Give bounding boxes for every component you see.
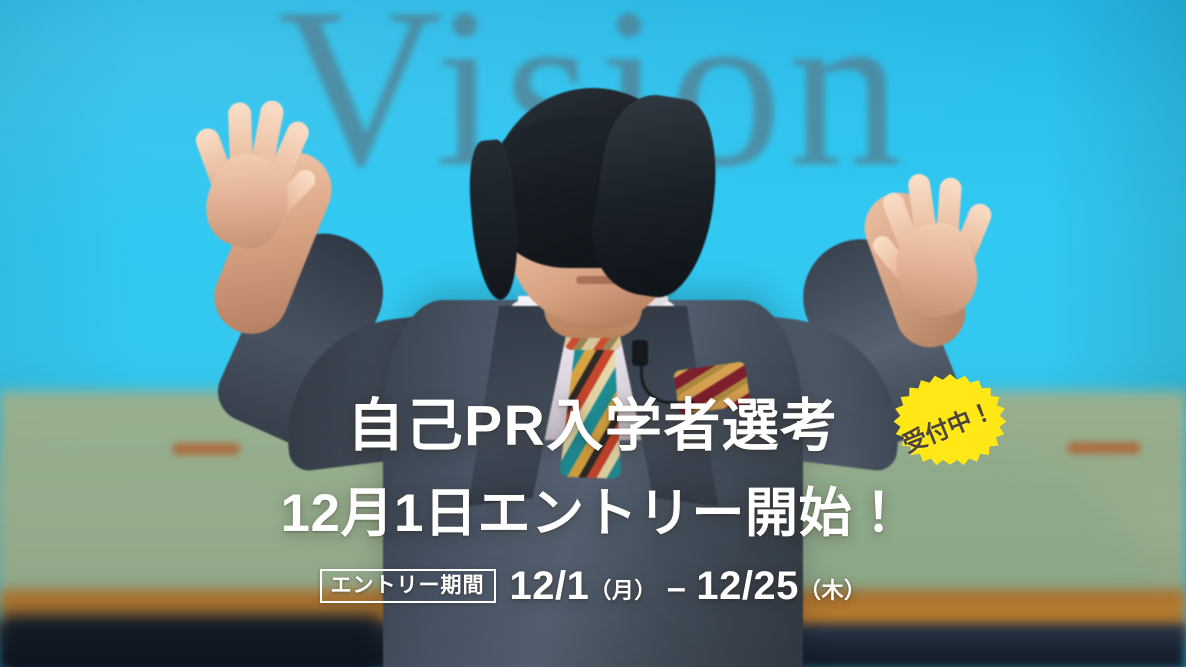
entry-period-dates: 12/1（月）–12/25（木） [510, 566, 867, 606]
start-day-of-week: （月） [589, 578, 657, 603]
entry-period-tag: エントリー期間 [320, 569, 496, 603]
accepting-now-badge[interactable]: 受付中！ [891, 374, 1009, 482]
subheadline: 12月1日エントリー開始！ [0, 487, 1186, 540]
start-date: 12/1 [510, 564, 590, 608]
date-separator: – [657, 569, 696, 607]
promo-banner: Vision [0, 0, 1186, 667]
entry-period-row: エントリー期間 12/1（月）–12/25（木） [0, 566, 1186, 606]
end-date: 12/25 [696, 564, 799, 608]
text-overlay: 自己PR入学者選考 12月1日エントリー開始！ エントリー期間 12/1（月）–… [0, 0, 1186, 667]
end-day-of-week: （木） [799, 578, 867, 603]
